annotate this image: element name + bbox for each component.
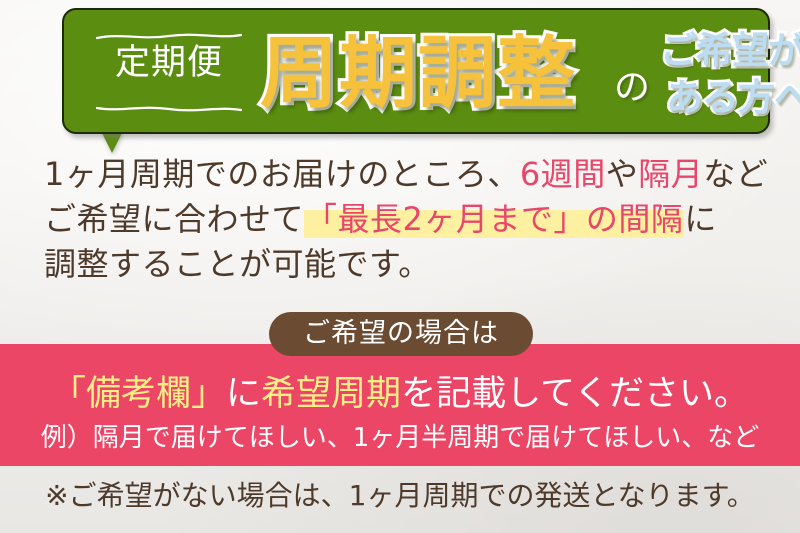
body-copy-line-1: 1ヶ月周期でのお届けのところ、6週間や隔月など	[44, 152, 774, 197]
wave-rule-top-icon	[96, 32, 242, 41]
instruction-band: 「備考欄」に希望周期を記載してください。 例）隔月で届けてほしい、1ヶ月半周期で…	[0, 344, 800, 466]
speech-bubble-tail-icon	[101, 131, 123, 153]
header-subtitle-line-1: ご希望が	[660, 27, 800, 74]
body-line1-part1: 1ヶ月周期でのお届けのところ、	[44, 155, 520, 193]
subscription-badge-label: 定期便	[94, 46, 244, 81]
body-line1-accent-6weeks: 6週間	[520, 155, 606, 193]
instruction-field-name: 「備考欄」	[51, 374, 226, 414]
instruction-headline: 「備考欄」に希望周期を記載してください。	[0, 373, 800, 415]
body-line2-part2: に	[684, 200, 717, 238]
body-line1-part3: など	[703, 155, 768, 193]
header-speech-bubble: 定期便 周期調整 の ご希望が ある方へ	[62, 8, 770, 134]
header-subtitle-line-2: ある方へ	[660, 74, 800, 121]
wave-rule-bottom-icon	[96, 104, 242, 113]
header-title: 周期調整	[260, 26, 576, 122]
body-line2-highlight: 「最長2ヶ月まで」の間隔	[304, 200, 684, 238]
body-copy: 1ヶ月周期でのお届けのところ、6週間や隔月など ご希望に合わせて「最長2ヶ月まで…	[44, 152, 774, 287]
header-subtitle: ご希望が ある方へ	[660, 27, 800, 121]
body-line1-accent-bimonthly: 隔月	[638, 155, 703, 193]
body-line2-part1: ご希望に合わせて	[44, 200, 304, 238]
instruction-example: 例）隔月で届けてほしい、1ヶ月半周期で届けてほしい、など	[0, 422, 800, 454]
header-inner: 定期便 周期調整 の ご希望が ある方へ	[64, 10, 768, 132]
instruction-part4: を記載してください。	[401, 374, 749, 414]
body-line1-part2: や	[606, 155, 639, 193]
request-case-pill: ご希望の場合は	[269, 312, 533, 356]
instruction-cycle-term: 希望周期	[261, 374, 401, 414]
header-title-particle: の	[614, 68, 650, 108]
footnote-text: ※ご希望がない場合は、1ヶ月周期での発送となります。	[0, 478, 800, 514]
instruction-part2: に	[226, 374, 261, 414]
body-copy-line-2: ご希望に合わせて「最長2ヶ月まで」の間隔に	[44, 197, 774, 242]
promo-banner: 定期便 周期調整 の ご希望が ある方へ 1ヶ月周期でのお届けのところ、6週間や…	[0, 0, 800, 533]
body-copy-line-3: 調整することが可能です。	[44, 242, 774, 287]
subscription-badge: 定期便	[94, 30, 244, 116]
